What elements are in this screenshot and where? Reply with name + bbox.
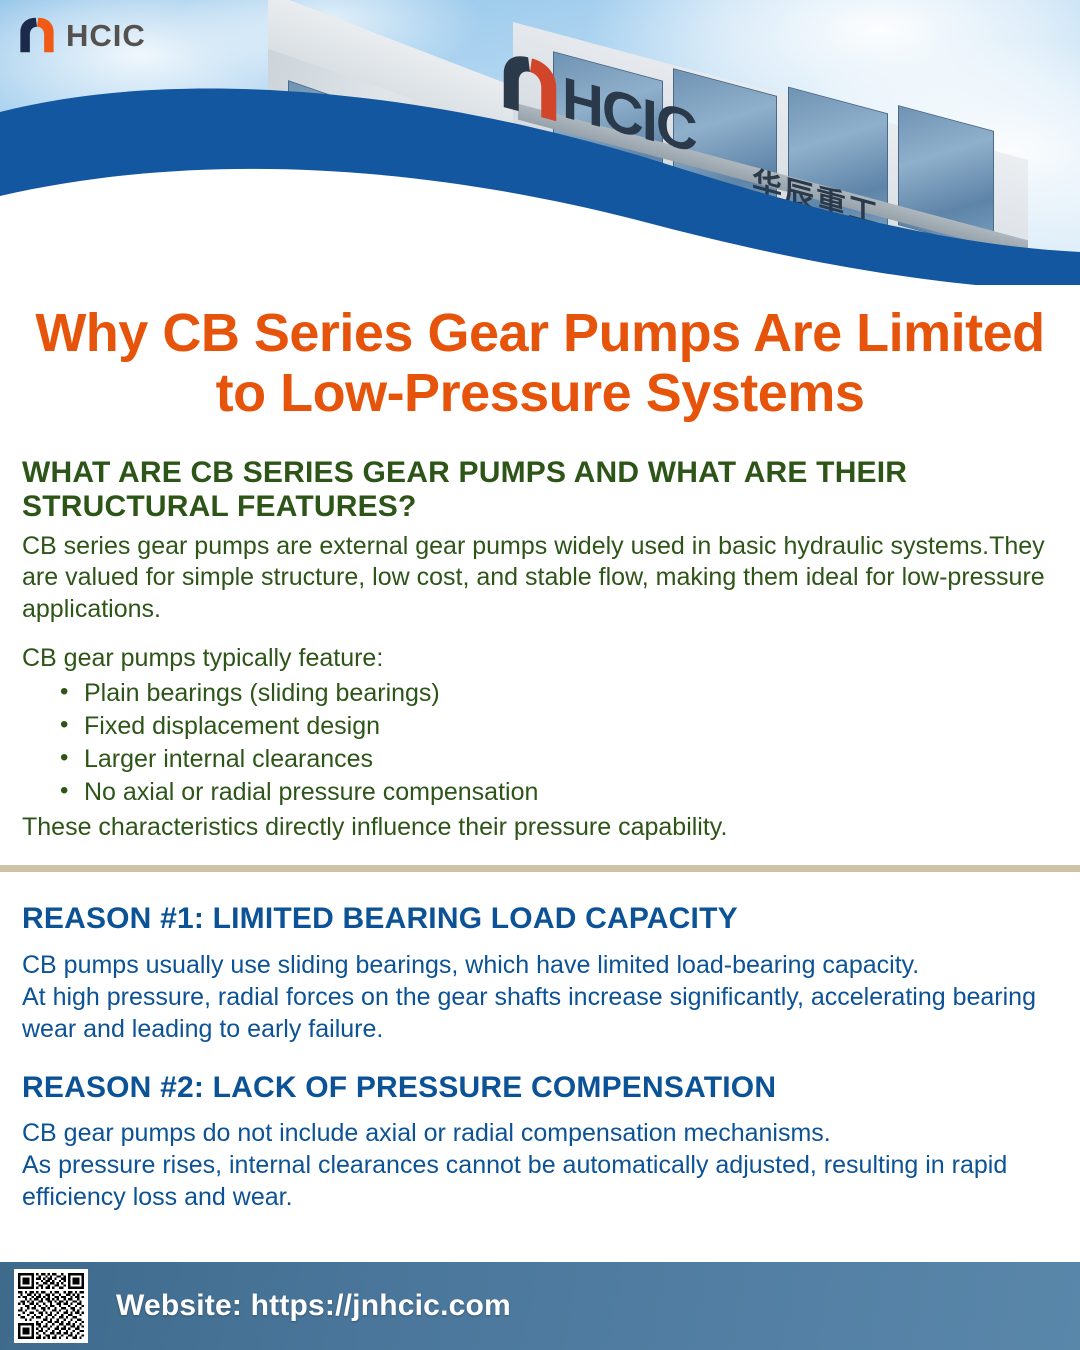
hcic-logo-icon	[500, 48, 560, 124]
section-lead-in: CB gear pumps typically feature:	[22, 643, 1058, 675]
section-what-are-cb-series: WHAT ARE CB SERIES GEAR PUMPS AND WHAT A…	[0, 424, 1080, 844]
qr-code-svg	[18, 1273, 84, 1339]
factory-building-photo: HCIC 华辰重工	[268, 0, 1028, 262]
building-sign-cn: 华辰重工	[752, 168, 880, 232]
list-item: Plain bearings (sliding bearings)	[60, 677, 1058, 710]
reason-1-heading: REASON #1: LIMITED BEARING LOAD CAPACITY	[22, 902, 1058, 937]
website-label[interactable]: Website: https://jnhcic.com	[116, 1289, 511, 1323]
header-banner: HCIC 华辰重工 HCIC	[0, 0, 1080, 285]
reason-1-body: CB pumps usually use sliding bearings, w…	[22, 949, 1058, 1045]
footer-bar: Website: https://jnhcic.com	[0, 1262, 1080, 1350]
section-closing: These characteristics directly influence…	[22, 811, 1058, 844]
section-heading: WHAT ARE CB SERIES GEAR PUMPS AND WHAT A…	[22, 456, 1058, 525]
reason-2-body: CB gear pumps do not include axial or ra…	[22, 1117, 1058, 1213]
list-item: Fixed displacement design	[60, 710, 1058, 743]
section-reasons: REASON #1: LIMITED BEARING LOAD CAPACITY…	[0, 872, 1080, 1213]
qr-code-icon[interactable]	[14, 1269, 88, 1343]
section-divider	[0, 865, 1080, 872]
page-title: Why CB Series Gear Pumps Are Limited to …	[0, 285, 1080, 424]
list-item: No axial or radial pressure compensation	[60, 776, 1058, 809]
feature-list: Plain bearings (sliding bearings) Fixed …	[22, 677, 1058, 809]
hcic-logo-icon	[18, 16, 56, 54]
list-item: Larger internal clearances	[60, 743, 1058, 776]
brand-logo: HCIC	[18, 16, 146, 54]
section-paragraph: CB series gear pumps are external gear p…	[22, 531, 1058, 626]
brand-wordmark: HCIC	[66, 20, 146, 51]
reason-2-heading: REASON #2: LACK OF PRESSURE COMPENSATION	[22, 1071, 1058, 1106]
